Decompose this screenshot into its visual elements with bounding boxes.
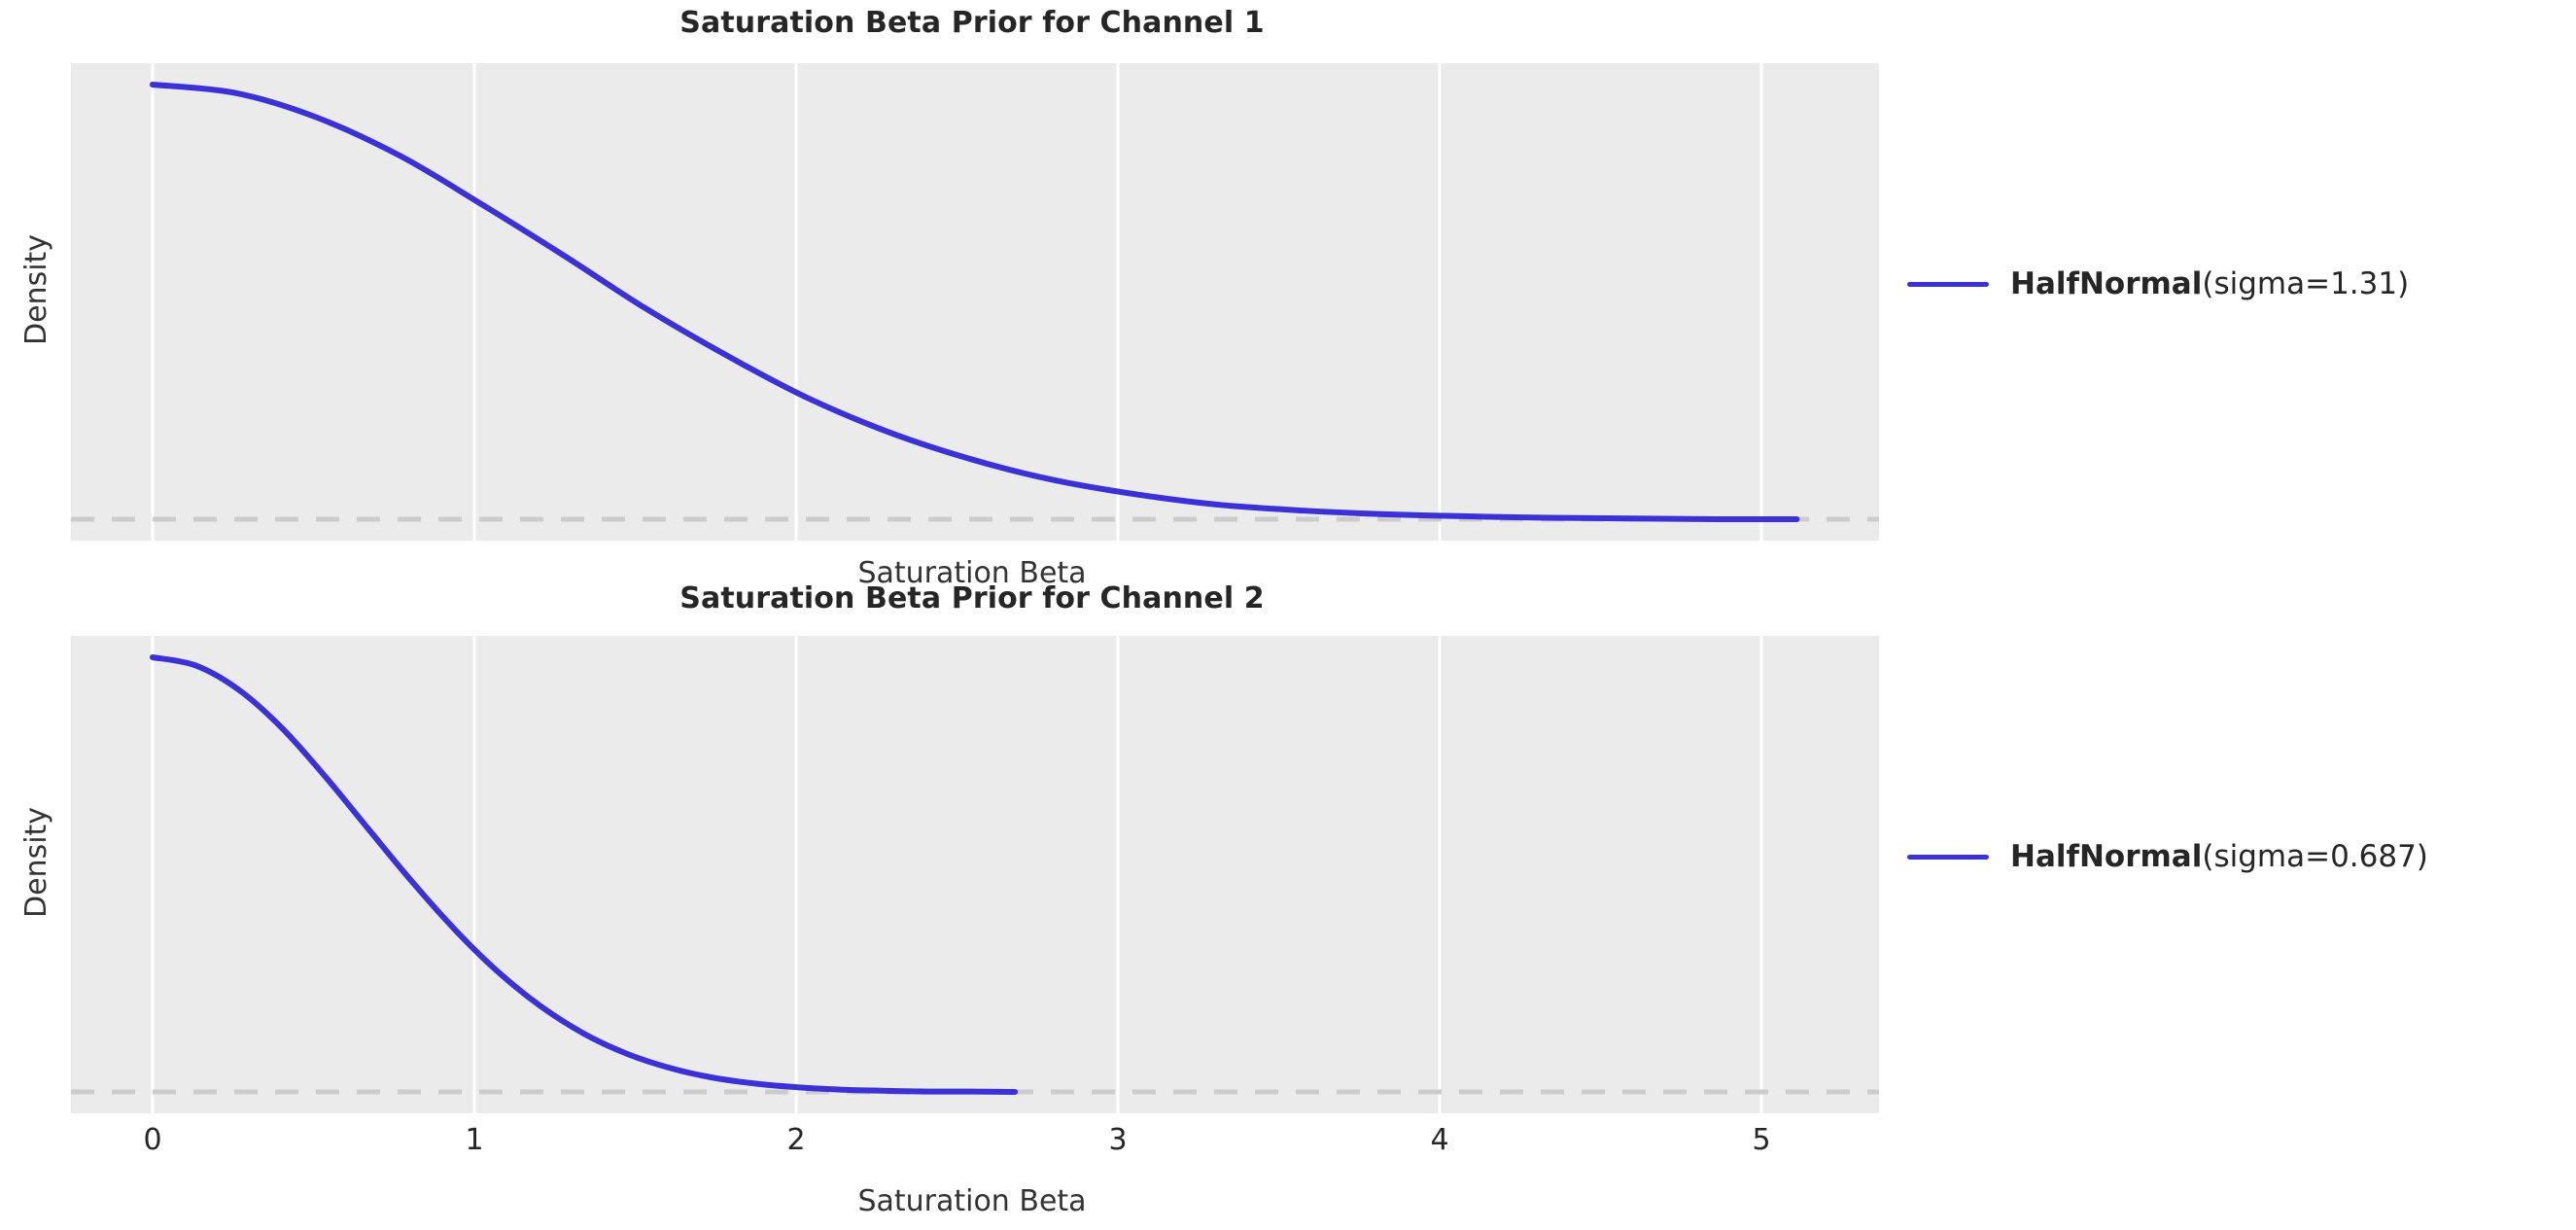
x-tick-label-2: 2 <box>757 1123 835 1157</box>
legend-label-channel-1: HalfNormal(sigma=1.31) <box>2010 266 2409 301</box>
density-curve-channel-2 <box>153 657 1015 1092</box>
x-tick-label-1: 1 <box>435 1123 513 1157</box>
figure-canvas: Saturation Beta Prior for Channel 1 Dens… <box>0 0 2576 1230</box>
x-tick-label-4: 4 <box>1401 1123 1479 1157</box>
plot-area-channel-1 <box>71 63 1879 541</box>
chart-title-channel-2: Saturation Beta Prior for Channel 2 <box>0 581 1944 615</box>
legend-dist-name: HalfNormal <box>2010 839 2202 874</box>
density-curve-channel-1 <box>153 85 1796 519</box>
chart-title-channel-1: Saturation Beta Prior for Channel 1 <box>0 6 1944 40</box>
x-axis-label-channel-2: Saturation Beta <box>0 1184 1944 1218</box>
y-axis-label-channel-1: Density <box>19 234 53 345</box>
legend-dist-args: (sigma=1.31) <box>2202 266 2409 301</box>
x-tick-label-0: 0 <box>114 1123 191 1157</box>
plot-area-channel-2 <box>71 636 1879 1113</box>
x-tick-label-3: 3 <box>1079 1123 1157 1157</box>
legend-line-swatch-icon <box>1907 855 1989 860</box>
plot-svg-channel-1 <box>71 63 1879 541</box>
gridlines-channel-2 <box>153 636 1761 1113</box>
legend-channel-2: HalfNormal(sigma=0.687) <box>1907 839 2428 874</box>
legend-label-channel-2: HalfNormal(sigma=0.687) <box>2010 839 2428 874</box>
legend-dist-name: HalfNormal <box>2010 266 2202 301</box>
gridlines-channel-1 <box>153 63 1761 541</box>
legend-dist-args: (sigma=0.687) <box>2202 839 2428 874</box>
x-tick-label-5: 5 <box>1723 1123 1800 1157</box>
legend-line-swatch-icon <box>1907 282 1989 287</box>
y-axis-label-channel-2: Density <box>19 807 53 918</box>
plot-svg-channel-2 <box>71 636 1879 1113</box>
legend-channel-1: HalfNormal(sigma=1.31) <box>1907 266 2409 301</box>
